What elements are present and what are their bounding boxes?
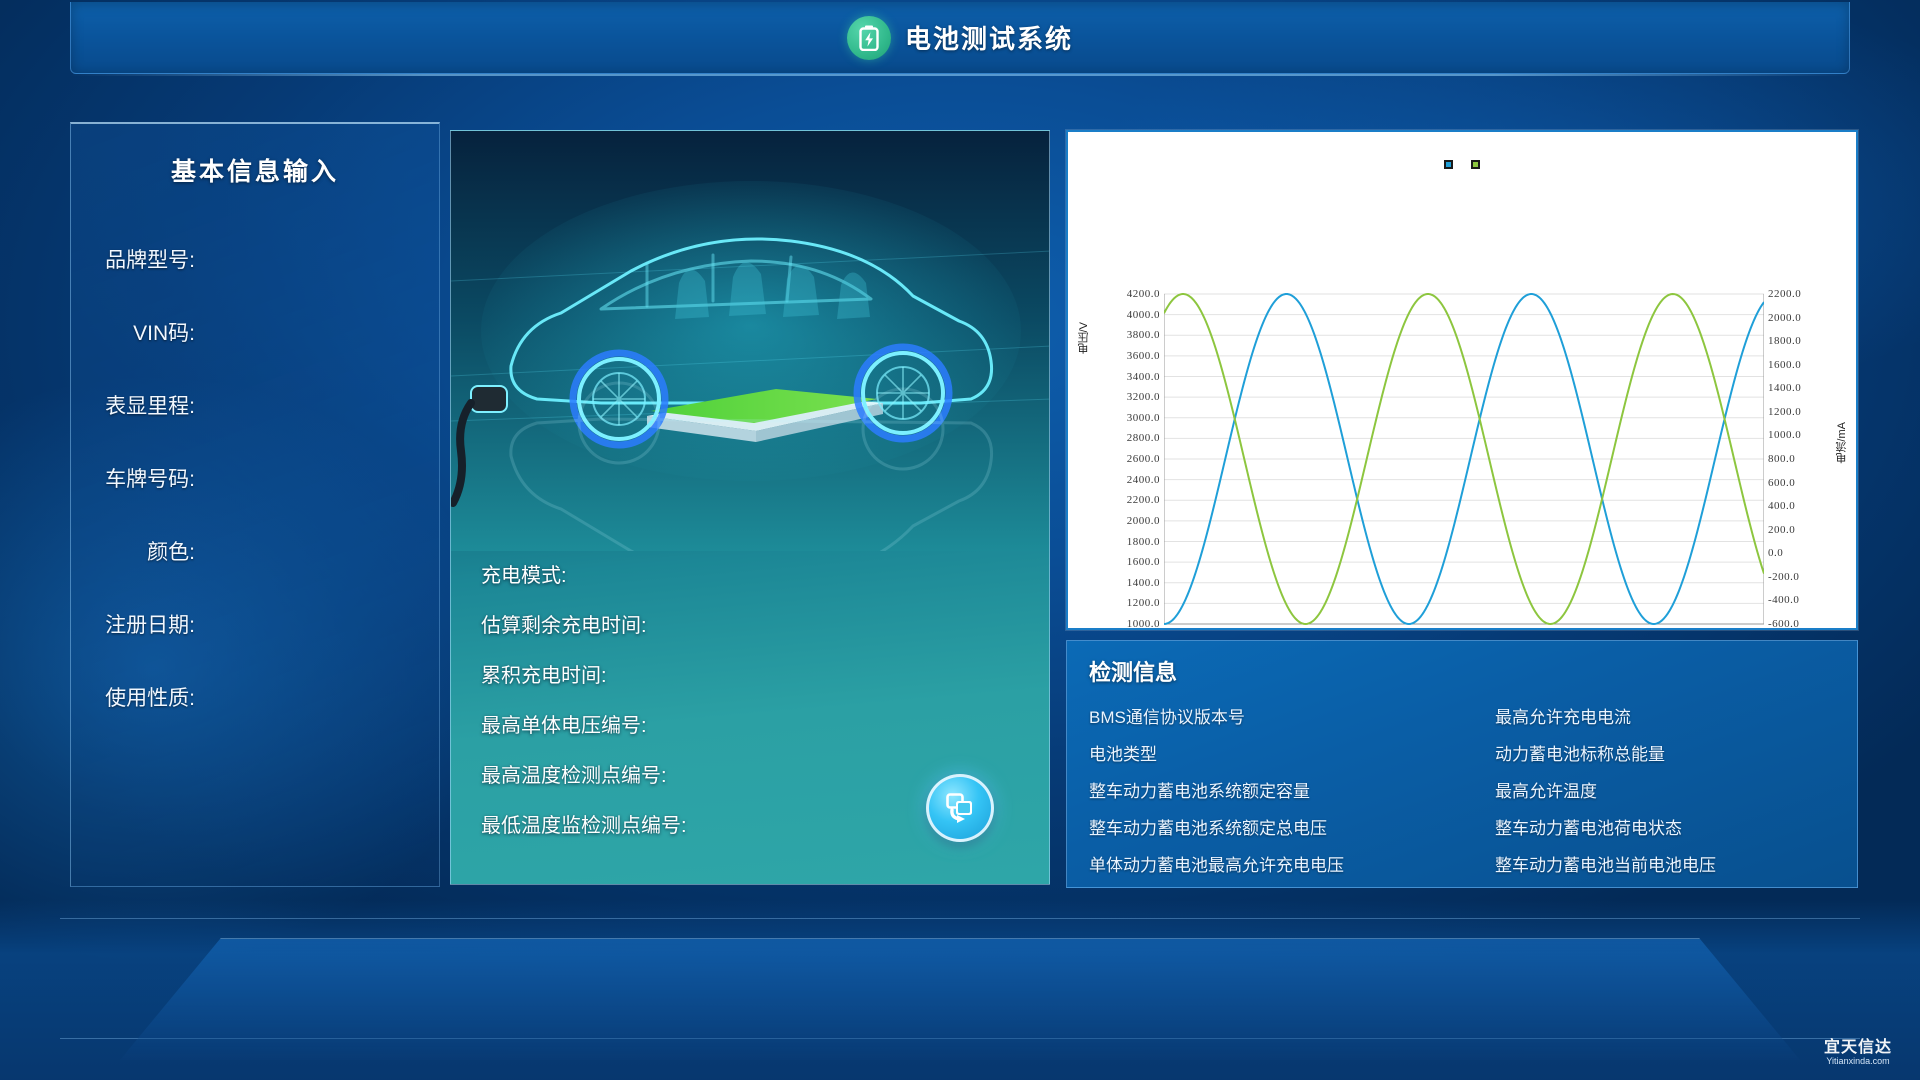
basic-info-panel: 基本信息输入 品牌型号:VIN码:表显里程:车牌号码:颜色:注册日期:使用性质: xyxy=(70,122,440,887)
chart-y-tick-label: 3000.0 xyxy=(1127,412,1160,424)
basic-info-row[interactable]: 品牌型号: xyxy=(71,244,439,317)
detection-info-item[interactable]: 整车动力蓄电池当前电池电压 xyxy=(1495,847,1857,884)
basic-info-form: 品牌型号:VIN码:表显里程:车牌号码:颜色:注册日期:使用性质: xyxy=(71,244,439,755)
charging-info-label: 最高单体电压编号: xyxy=(481,709,647,738)
app-header: 电池测试系统 xyxy=(70,2,1850,74)
measurement-chart-card: 电压/V 电流/mA 4200.04000.03800.03600.03400.… xyxy=(1066,130,1858,630)
detection-info-panel: 检测信息 BMS通信协议版本号电池类型整车动力蓄电池系统额定容量整车动力蓄电池系… xyxy=(1066,640,1858,888)
battery-icon xyxy=(847,16,891,60)
chart-y-tick-label: 1400.0 xyxy=(1127,577,1160,589)
chart-y-tick-label: 3800.0 xyxy=(1127,329,1160,341)
chart-y-tick-label: 2800.0 xyxy=(1127,432,1160,444)
charging-info-label: 最低温度监检测点编号: xyxy=(481,809,687,838)
chart-y2-tick-label: 2000.0 xyxy=(1768,312,1801,324)
detection-info-item[interactable]: 整车动力蓄电池系统额定容量 xyxy=(1089,773,1495,810)
chart-y-tick-label: 1600.0 xyxy=(1127,556,1160,568)
charging-info-row[interactable]: 累积充电时间: xyxy=(481,648,1049,698)
chart-y2-tick-label: 2200.0 xyxy=(1768,288,1801,300)
watermark-en: Yitianxinda.com xyxy=(1826,1056,1889,1067)
watermark-cn: 宜天信达 xyxy=(1824,1040,1892,1056)
chart-y-tick-label: 3200.0 xyxy=(1127,391,1160,403)
chart-y2-tick-label: 800.0 xyxy=(1768,453,1795,465)
copy-sync-icon xyxy=(941,789,979,827)
chart-y-tick-label: 1200.0 xyxy=(1127,597,1160,609)
chart-y2-ticks: 2200.02000.01800.01600.01400.01200.01000… xyxy=(1768,132,1838,628)
basic-info-label: 品牌型号: xyxy=(105,244,195,274)
chart-inner: 电压/V 电流/mA 4200.04000.03800.03600.03400.… xyxy=(1068,132,1856,628)
chart-y2-tick-label: 1800.0 xyxy=(1768,335,1801,347)
ev-car-illustration xyxy=(451,131,1050,551)
chart-y2-tick-label: 1000.0 xyxy=(1768,429,1801,441)
chart-y2-tick-label: 1200.0 xyxy=(1768,406,1801,418)
chart-plot-area xyxy=(1164,132,1764,632)
charging-info-row[interactable]: 最高单体电压编号: xyxy=(481,698,1049,748)
chart-y2-tick-label: 600.0 xyxy=(1768,477,1795,489)
basic-info-label: 表显里程: xyxy=(105,390,195,420)
refresh-sync-button[interactable] xyxy=(926,774,994,842)
chart-y-tick-label: 4200.0 xyxy=(1127,288,1160,300)
detection-info-item[interactable]: 单体动力蓄电池最高允许充电电压 xyxy=(1089,847,1495,884)
chart-y2-tick-label: 1400.0 xyxy=(1768,382,1801,394)
detection-info-item[interactable]: 动力蓄电池标称总能量 xyxy=(1495,736,1857,773)
basic-info-title: 基本信息输入 xyxy=(71,152,439,188)
chart-y-tick-label: 1800.0 xyxy=(1127,536,1160,548)
charging-info-label: 最高温度检测点编号: xyxy=(481,759,667,788)
basic-info-row[interactable]: 车牌号码: xyxy=(71,463,439,536)
chart-y-tick-label: 3400.0 xyxy=(1127,371,1160,383)
charging-info-row[interactable]: 充电模式: xyxy=(481,548,1049,598)
basic-info-row[interactable]: 颜色: xyxy=(71,536,439,609)
charging-info-label: 估算剩余充电时间: xyxy=(481,609,647,638)
vehicle-visual-panel: 充电模式:估算剩余充电时间:累积充电时间:最高单体电压编号:最高温度检测点编号:… xyxy=(450,130,1050,885)
basic-info-row[interactable]: 表显里程: xyxy=(71,390,439,463)
detection-info-item[interactable]: 整车动力蓄电池系统额定总电压 xyxy=(1089,810,1495,847)
chart-y-tick-label: 3600.0 xyxy=(1127,350,1160,362)
charging-info-label: 累积充电时间: xyxy=(481,659,607,688)
chart-y-tick-label: 2200.0 xyxy=(1127,494,1160,506)
chart-y-tick-label: 1000.0 xyxy=(1127,618,1160,630)
chart-y-tick-label: 2600.0 xyxy=(1127,453,1160,465)
detection-info-item[interactable]: 最高允许充电电流 xyxy=(1495,699,1857,736)
page-title: 电池测试系统 xyxy=(905,19,1073,56)
chart-y2-tick-label: -200.0 xyxy=(1768,571,1799,583)
basic-info-row[interactable]: 使用性质: xyxy=(71,682,439,755)
charging-info-row[interactable]: 估算剩余充电时间: xyxy=(481,598,1049,648)
watermark: 宜天信达 Yitianxinda.com xyxy=(1810,1036,1906,1070)
stage-platform xyxy=(120,938,1800,1060)
detection-info-item[interactable]: 电池类型 xyxy=(1089,736,1495,773)
chart-y2-tick-label: 0.0 xyxy=(1768,547,1783,559)
chart-y2-tick-label: -400.0 xyxy=(1768,594,1799,606)
chart-y-ticks: 4200.04000.03800.03600.03400.03200.03000… xyxy=(1088,132,1160,628)
basic-info-label: 颜色: xyxy=(147,536,195,566)
chart-y-tick-label: 4000.0 xyxy=(1127,309,1160,321)
header-divider xyxy=(70,74,1850,76)
detection-info-column-left: BMS通信协议版本号电池类型整车动力蓄电池系统额定容量整车动力蓄电池系统额定总电… xyxy=(1089,699,1495,884)
basic-info-label: 车牌号码: xyxy=(105,463,195,493)
detection-info-column-right: 最高允许充电电流动力蓄电池标称总能量最高允许温度整车动力蓄电池荷电状态整车动力蓄… xyxy=(1495,699,1857,884)
chart-y-tick-label: 2000.0 xyxy=(1127,515,1160,527)
basic-info-label: 使用性质: xyxy=(105,682,195,712)
basic-info-label: VIN码: xyxy=(133,317,195,347)
chart-y-tick-label: 2400.0 xyxy=(1127,474,1160,486)
chart-y2-tick-label: 400.0 xyxy=(1768,500,1795,512)
stage-line-top xyxy=(60,918,1860,919)
basic-info-label: 注册日期: xyxy=(105,609,195,639)
detection-info-item[interactable]: 最高允许温度 xyxy=(1495,773,1857,810)
detection-info-item[interactable]: 整车动力蓄电池荷电状态 xyxy=(1495,810,1857,847)
basic-info-row[interactable]: VIN码: xyxy=(71,317,439,390)
detection-info-title: 检测信息 xyxy=(1089,655,1857,687)
chart-y2-tick-label: 1600.0 xyxy=(1768,359,1801,371)
chart-y2-tick-label: -600.0 xyxy=(1768,618,1799,630)
basic-info-row[interactable]: 注册日期: xyxy=(71,609,439,682)
bottom-stage xyxy=(0,900,1920,1080)
chart-y2-tick-label: 200.0 xyxy=(1768,524,1795,536)
charging-info-label: 充电模式: xyxy=(481,559,567,588)
detection-info-item[interactable]: BMS通信协议版本号 xyxy=(1089,699,1495,736)
